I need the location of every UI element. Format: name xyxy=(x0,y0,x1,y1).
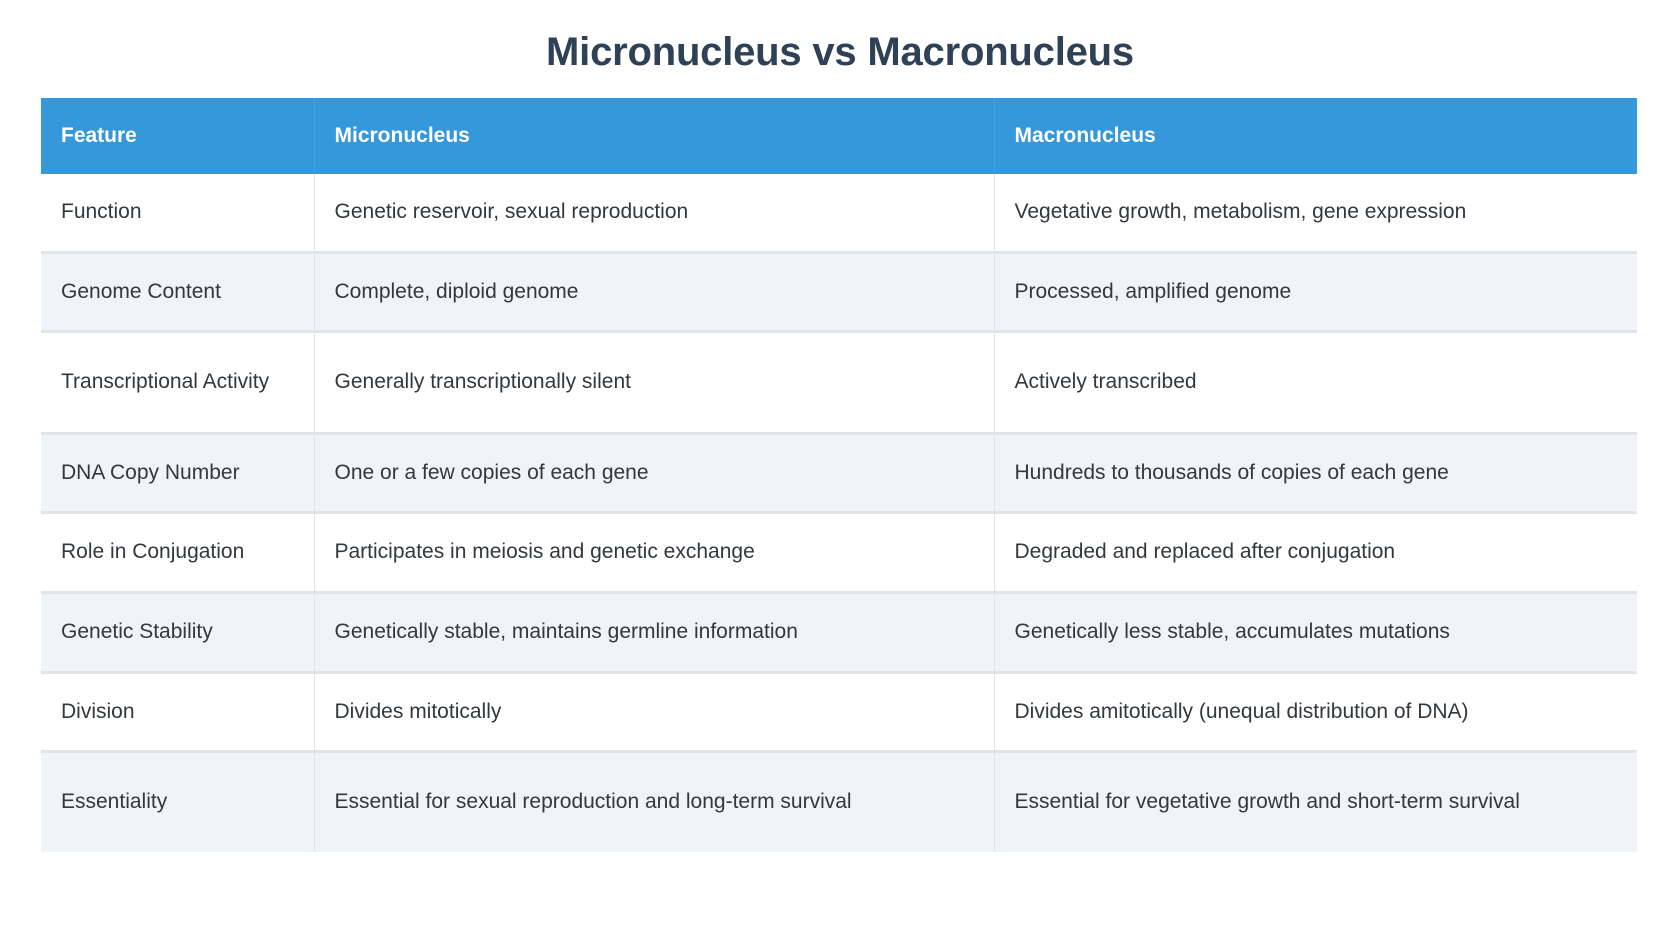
comparison-table: Feature Micronucleus Macronucleus Functi… xyxy=(41,98,1637,852)
cell-feature: Function xyxy=(41,174,314,252)
cell-macronucleus: Vegetative growth, metabolism, gene expr… xyxy=(994,174,1637,252)
comparison-table-container: Feature Micronucleus Macronucleus Functi… xyxy=(41,98,1637,852)
cell-micronucleus: Generally transcriptionally silent xyxy=(314,332,994,434)
cell-macronucleus: Actively transcribed xyxy=(994,332,1637,434)
table-row: Role in Conjugation Participates in meio… xyxy=(41,513,1637,593)
table-row: Genome Content Complete, diploid genome … xyxy=(41,252,1637,332)
cell-macronucleus: Essential for vegetative growth and shor… xyxy=(994,752,1637,852)
cell-macronucleus: Degraded and replaced after conjugation xyxy=(994,513,1637,593)
column-header-micronucleus: Micronucleus xyxy=(314,98,994,174)
cell-micronucleus: Genetically stable, maintains germline i… xyxy=(314,592,994,672)
cell-feature: Essentiality xyxy=(41,752,314,852)
cell-feature: Transcriptional Activity xyxy=(41,332,314,434)
cell-feature: Genome Content xyxy=(41,252,314,332)
cell-macronucleus: Processed, amplified genome xyxy=(994,252,1637,332)
cell-micronucleus: One or a few copies of each gene xyxy=(314,433,994,513)
cell-macronucleus: Hundreds to thousands of copies of each … xyxy=(994,433,1637,513)
table-row: Transcriptional Activity Generally trans… xyxy=(41,332,1637,434)
table-header-row: Feature Micronucleus Macronucleus xyxy=(41,98,1637,174)
cell-macronucleus: Divides amitotically (unequal distributi… xyxy=(994,672,1637,752)
cell-micronucleus: Genetic reservoir, sexual reproduction xyxy=(314,174,994,252)
table-row: DNA Copy Number One or a few copies of e… xyxy=(41,433,1637,513)
cell-feature: Role in Conjugation xyxy=(41,513,314,593)
table-row: Essentiality Essential for sexual reprod… xyxy=(41,752,1637,852)
table-row: Function Genetic reservoir, sexual repro… xyxy=(41,174,1637,252)
cell-feature: Division xyxy=(41,672,314,752)
comparison-page: Micronucleus vs Macronucleus Feature Mic… xyxy=(0,0,1680,934)
cell-feature: Genetic Stability xyxy=(41,592,314,672)
table-body: Function Genetic reservoir, sexual repro… xyxy=(41,174,1637,851)
cell-feature: DNA Copy Number xyxy=(41,433,314,513)
column-header-macronucleus: Macronucleus xyxy=(994,98,1637,174)
cell-micronucleus: Divides mitotically xyxy=(314,672,994,752)
cell-macronucleus: Genetically less stable, accumulates mut… xyxy=(994,592,1637,672)
page-title: Micronucleus vs Macronucleus xyxy=(0,0,1680,98)
column-header-feature: Feature xyxy=(41,98,314,174)
table-header: Feature Micronucleus Macronucleus xyxy=(41,98,1637,174)
cell-micronucleus: Complete, diploid genome xyxy=(314,252,994,332)
table-row: Division Divides mitotically Divides ami… xyxy=(41,672,1637,752)
cell-micronucleus: Essential for sexual reproduction and lo… xyxy=(314,752,994,852)
table-row: Genetic Stability Genetically stable, ma… xyxy=(41,592,1637,672)
cell-micronucleus: Participates in meiosis and genetic exch… xyxy=(314,513,994,593)
